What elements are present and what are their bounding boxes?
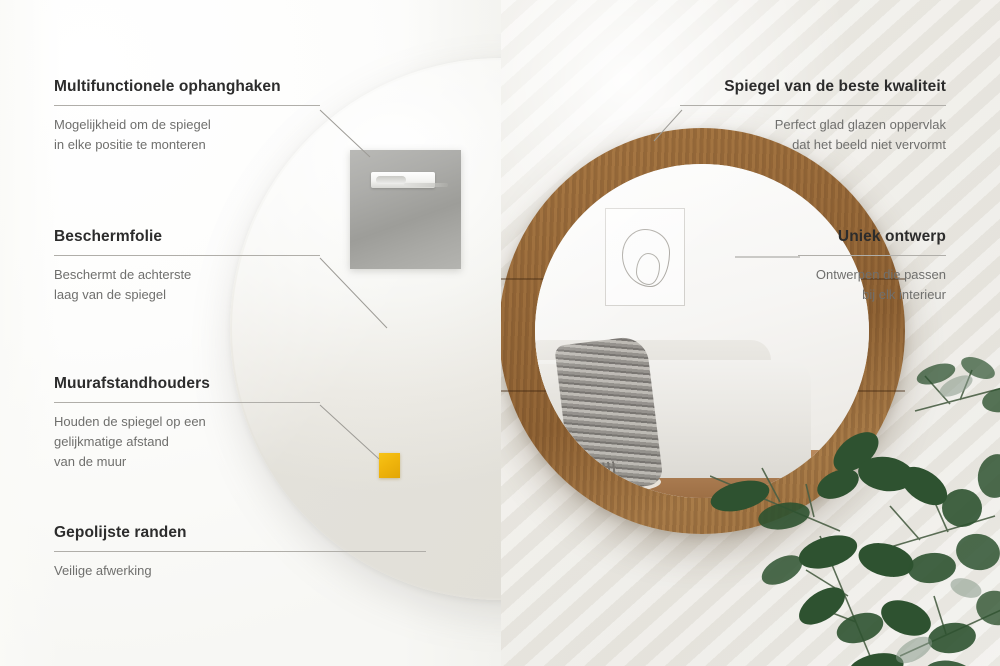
callout-rule (798, 255, 946, 256)
callout-body-line: in elke positie te monteren (54, 135, 320, 155)
callout-body-line: Beschermt de achterste (54, 265, 320, 285)
hanger-slot (376, 176, 406, 184)
callout-title: Muurafstandhouders (54, 375, 320, 393)
callout-body-line: van de muur (54, 452, 320, 472)
callout-rule (54, 105, 320, 106)
callout-rule (54, 255, 320, 256)
callout-body-line: Veilige afwerking (54, 561, 426, 581)
wall-spacer-yellow (379, 453, 400, 478)
callout-body-line: Houden de spiegel op een (54, 412, 320, 432)
foliage-decoration (710, 356, 1000, 666)
hanger-plate (350, 150, 461, 269)
callout-title: Beschermfolie (54, 228, 320, 246)
callout-title: Uniek ontwerp (798, 228, 946, 246)
callout-rule (680, 105, 946, 106)
callout-body-line: laag van de spiegel (54, 285, 320, 305)
callout-body-line: dat het beeld niet vervormt (680, 135, 946, 155)
callout-gepolijste-randen: Gepolijste randen Veilige afwerking (54, 524, 426, 581)
callout-muurafstandhouders: Muurafstandhouders Houden de spiegel op … (54, 375, 320, 472)
callout-rule (54, 551, 426, 552)
callout-beste-kwaliteit: Spiegel van de beste kwaliteit Perfect g… (680, 78, 946, 155)
callout-title: Gepolijste randen (54, 524, 426, 542)
callout-title: Spiegel van de beste kwaliteit (680, 78, 946, 96)
callout-uniek-ontwerp: Uniek ontwerp Ontwerpen die passen bij e… (798, 228, 946, 305)
callout-ophanghaken: Multifunctionele ophanghaken Mogelijkhei… (54, 78, 320, 155)
callout-body-line: Ontwerpen die passen (798, 265, 946, 285)
callout-body-line: Mogelijkheid om de spiegel (54, 115, 320, 135)
callout-body-line: Perfect glad glazen oppervlak (680, 115, 946, 135)
hanger-tail (404, 183, 448, 187)
callout-body-line: bij elk interieur (798, 285, 946, 305)
callout-rule (54, 402, 320, 403)
infographic-canvas: Multifunctionele ophanghaken Mogelijkhei… (0, 0, 1000, 666)
callout-beschermfolie: Beschermfolie Beschermt de achterste laa… (54, 228, 320, 305)
callout-title: Multifunctionele ophanghaken (54, 78, 320, 96)
callout-body-line: gelijkmatige afstand (54, 432, 320, 452)
